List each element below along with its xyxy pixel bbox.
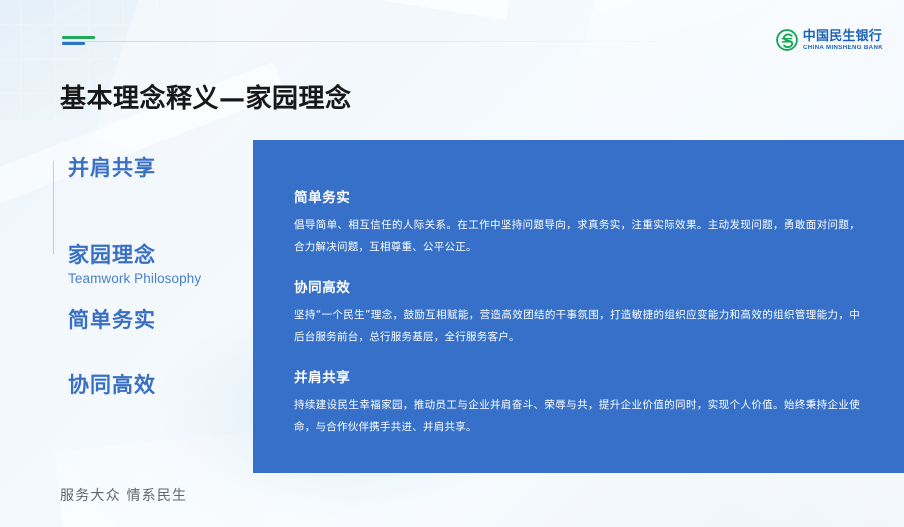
section-body: 持续建设民生幸福家园，推动员工与企业并肩奋斗、荣辱与共，提升企业价值的同时，实现… bbox=[294, 395, 860, 438]
content-section-xietong-gaoxiao: 协同高效 坚持“一个民生”理念，鼓励互相赋能，营造高效团结的干事氛围，打造敏捷的… bbox=[294, 276, 860, 348]
nav-item-label-cn: 简单务实 bbox=[68, 307, 156, 333]
nav-item-jiayuan-linian[interactable]: 家园理念 Teamwork Philosophy bbox=[68, 242, 201, 286]
nav-item-label-cn: 并肩共享 bbox=[68, 155, 156, 181]
nav-item-xietong-gaoxiao[interactable]: 协同高效 bbox=[68, 372, 156, 398]
content-section-jiandan-wushi: 简单务实 倡导简单、相互信任的人际关系。在工作中坚持问题导向，求真务实，注重实际… bbox=[294, 186, 860, 258]
section-title: 协同高效 bbox=[294, 276, 860, 296]
slide-root: 中国民生银行 CHINA MINSHENG BANK 基本理念释义—家园理念 家… bbox=[0, 0, 904, 527]
section-title: 简单务实 bbox=[294, 186, 860, 206]
nav-item-label-en: Teamwork Philosophy bbox=[68, 271, 201, 286]
content-panel: 简单务实 倡导简单、相互信任的人际关系。在工作中坚持问题导向，求真务实，注重实际… bbox=[253, 140, 904, 473]
header-divider bbox=[62, 41, 762, 42]
section-body: 坚持“一个民生”理念，鼓励互相赋能，营造高效团结的干事氛围，打造敏捷的组织应变能… bbox=[294, 305, 860, 348]
marker-blue-bar bbox=[62, 42, 85, 45]
header-accent-marker bbox=[62, 36, 95, 45]
page-title: 基本理念释义—家园理念 bbox=[60, 78, 352, 115]
content-section-bingjian-gongxiang: 并肩共享 持续建设民生幸福家园，推动员工与企业并肩奋斗、荣辱与共，提升企业价值的… bbox=[294, 366, 860, 438]
nav-item-bingjian-gongxiang[interactable]: 并肩共享 bbox=[68, 155, 156, 181]
nav-item-label-cn: 家园理念 bbox=[68, 242, 201, 268]
section-title: 并肩共享 bbox=[294, 366, 860, 386]
nav-accent-line bbox=[53, 161, 54, 254]
footer-slogan: 服务大众 情系民生 bbox=[60, 485, 187, 505]
brand-name-en: CHINA MINSHENG BANK bbox=[803, 45, 884, 51]
background-shape-d bbox=[565, 0, 895, 120]
section-body: 倡导简单、相互信任的人际关系。在工作中坚持问题导向，求真务实，注重实际效果。主动… bbox=[294, 215, 860, 258]
minsheng-s-mark-icon bbox=[776, 29, 798, 51]
nav-item-label-cn: 协同高效 bbox=[68, 372, 156, 398]
nav-item-jiandan-wushi[interactable]: 简单务实 bbox=[68, 307, 156, 333]
background-shape-c bbox=[299, 0, 511, 20]
brand-name-cn: 中国民生银行 bbox=[803, 30, 882, 43]
marker-green-bar bbox=[62, 36, 95, 39]
brand-logo: 中国民生银行 CHINA MINSHENG BANK bbox=[776, 29, 882, 51]
